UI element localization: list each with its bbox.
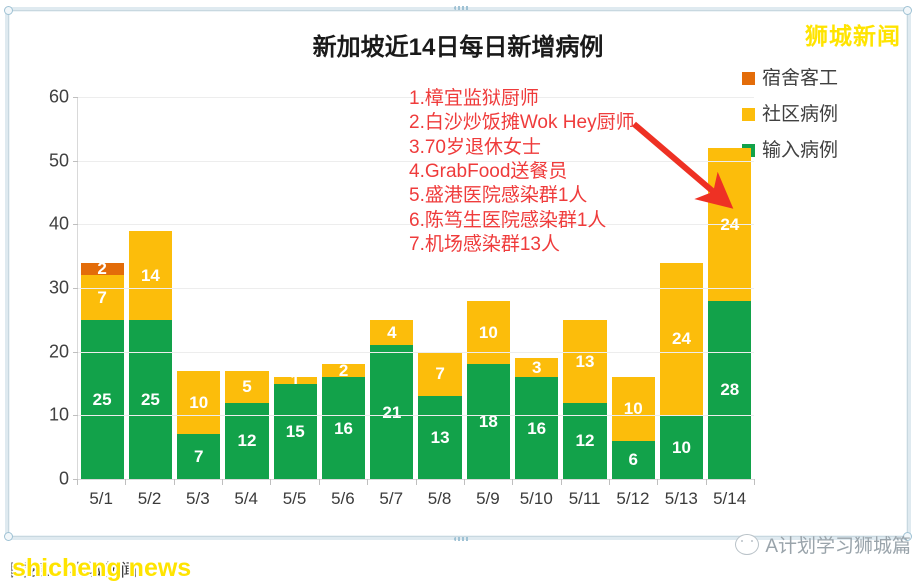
bar-segment[interactable]: 13 [563, 320, 606, 403]
x-axis-tick-mark [706, 479, 707, 485]
resize-handle-top-center[interactable] [454, 6, 470, 10]
bar-segment[interactable]: 5 [225, 371, 268, 403]
x-axis-tick-mark [174, 479, 175, 485]
y-axis-tick-mark [73, 288, 78, 289]
chart-object[interactable]: 新加坡近14日每日新增病例 狮城新闻 宿舍客工社区病例输入病例 01020304… [8, 10, 908, 537]
x-axis-tick-mark [561, 479, 562, 485]
bar-segment[interactable]: 7 [177, 434, 220, 479]
bar-segment[interactable]: 3 [515, 358, 558, 377]
y-axis-tick-label: 60 [27, 87, 69, 108]
bar-segment[interactable]: 7 [418, 352, 461, 397]
x-axis-tick-label: 5/1 [80, 489, 123, 519]
x-axis-tick-label: 5/8 [418, 489, 461, 519]
y-axis-tick-mark [73, 415, 78, 416]
x-axis-tick-label: 5/2 [128, 489, 171, 519]
x-axis-tick-mark [319, 479, 320, 485]
x-axis-tick-label: 5/13 [660, 489, 703, 519]
bar-segment[interactable]: 12 [225, 403, 268, 479]
bar-segment[interactable]: 10 [467, 301, 510, 365]
x-axis-tick-label: 5/14 [708, 489, 751, 519]
gridline [78, 288, 754, 289]
y-axis-tick-label: 0 [27, 469, 69, 490]
annotation-line: 1.樟宜监狱厨师 [409, 87, 709, 111]
bar-segment[interactable]: 2 [81, 263, 124, 276]
y-axis-tick-label: 50 [27, 150, 69, 171]
x-axis-tick-label: 5/9 [466, 489, 509, 519]
y-axis-tick-label: 10 [27, 405, 69, 426]
gridline [78, 352, 754, 353]
x-axis-tick-mark [609, 479, 610, 485]
bar-segment[interactable]: 2 [322, 364, 365, 377]
x-axis-tick-label: 5/10 [515, 489, 558, 519]
gridline [78, 415, 754, 416]
bar-segment[interactable]: 7 [81, 275, 124, 320]
x-axis-tick-mark [270, 479, 271, 485]
x-axis-tick-mark [464, 479, 465, 485]
resize-handle-bottom-center[interactable] [454, 537, 470, 541]
bar-segment[interactable]: 15 [274, 384, 317, 480]
bar-segment[interactable]: 14 [129, 231, 172, 320]
watermark-bottom-left: shicheng news [12, 554, 191, 583]
x-axis-tick-label: 5/11 [563, 489, 606, 519]
bar-segment[interactable]: 18 [467, 364, 510, 479]
x-axis-tick-mark [125, 479, 126, 485]
wechat-account-name: A计划学习狮城篇 [765, 531, 911, 558]
x-axis-tick-label: 5/6 [321, 489, 364, 519]
x-axis-tick-mark [77, 479, 78, 485]
x-axis-tick-mark [512, 479, 513, 485]
smiley-face-icon [735, 534, 759, 555]
wechat-account-tag: A计划学习狮城篇 [735, 531, 911, 558]
x-axis-labels: 5/15/25/35/45/55/65/75/85/95/105/115/125… [77, 489, 754, 519]
x-axis-tick-mark [416, 479, 417, 485]
x-axis-tick-mark [754, 479, 755, 485]
y-axis-tick-mark [73, 224, 78, 225]
bar-segment[interactable]: 25 [129, 320, 172, 479]
x-axis-tick-mark [367, 479, 368, 485]
bar-segment[interactable]: 12 [563, 403, 606, 479]
bar-segment[interactable]: 6 [612, 441, 655, 479]
x-axis-tick-label: 5/3 [176, 489, 219, 519]
y-axis: 0102030405060 [27, 91, 69, 479]
bar-segment[interactable]: 16 [515, 377, 558, 479]
y-axis-tick-mark [73, 161, 78, 162]
y-axis-tick-label: 20 [27, 341, 69, 362]
annotation-line: 7.机场感染群13人 [409, 233, 709, 257]
bar-segment[interactable]: 10 [660, 415, 703, 479]
bar-segment[interactable]: 10 [612, 377, 655, 441]
y-axis-tick-mark [73, 352, 78, 353]
bar-segment[interactable]: 16 [322, 377, 365, 479]
y-axis-tick-label: 30 [27, 278, 69, 299]
x-axis-tick-label: 5/4 [225, 489, 268, 519]
x-axis-tick-label: 5/7 [370, 489, 413, 519]
x-axis-tick-mark [657, 479, 658, 485]
x-axis-tick-label: 5/5 [273, 489, 316, 519]
y-axis-tick-label: 40 [27, 214, 69, 235]
bar-segment[interactable]: 28 [708, 301, 751, 479]
x-axis-tick-mark [222, 479, 223, 485]
x-axis-tick-label: 5/12 [611, 489, 654, 519]
red-arrow-icon [624, 116, 744, 216]
bar-segment[interactable]: 25 [81, 320, 124, 479]
bar-segment[interactable]: 10 [177, 371, 220, 435]
bar-segment[interactable]: 24 [660, 263, 703, 416]
y-axis-tick-mark [73, 97, 78, 98]
bar-segment[interactable]: 4 [370, 320, 413, 345]
bar-segment[interactable]: 13 [418, 396, 461, 479]
bar-segment[interactable]: 21 [370, 345, 413, 479]
